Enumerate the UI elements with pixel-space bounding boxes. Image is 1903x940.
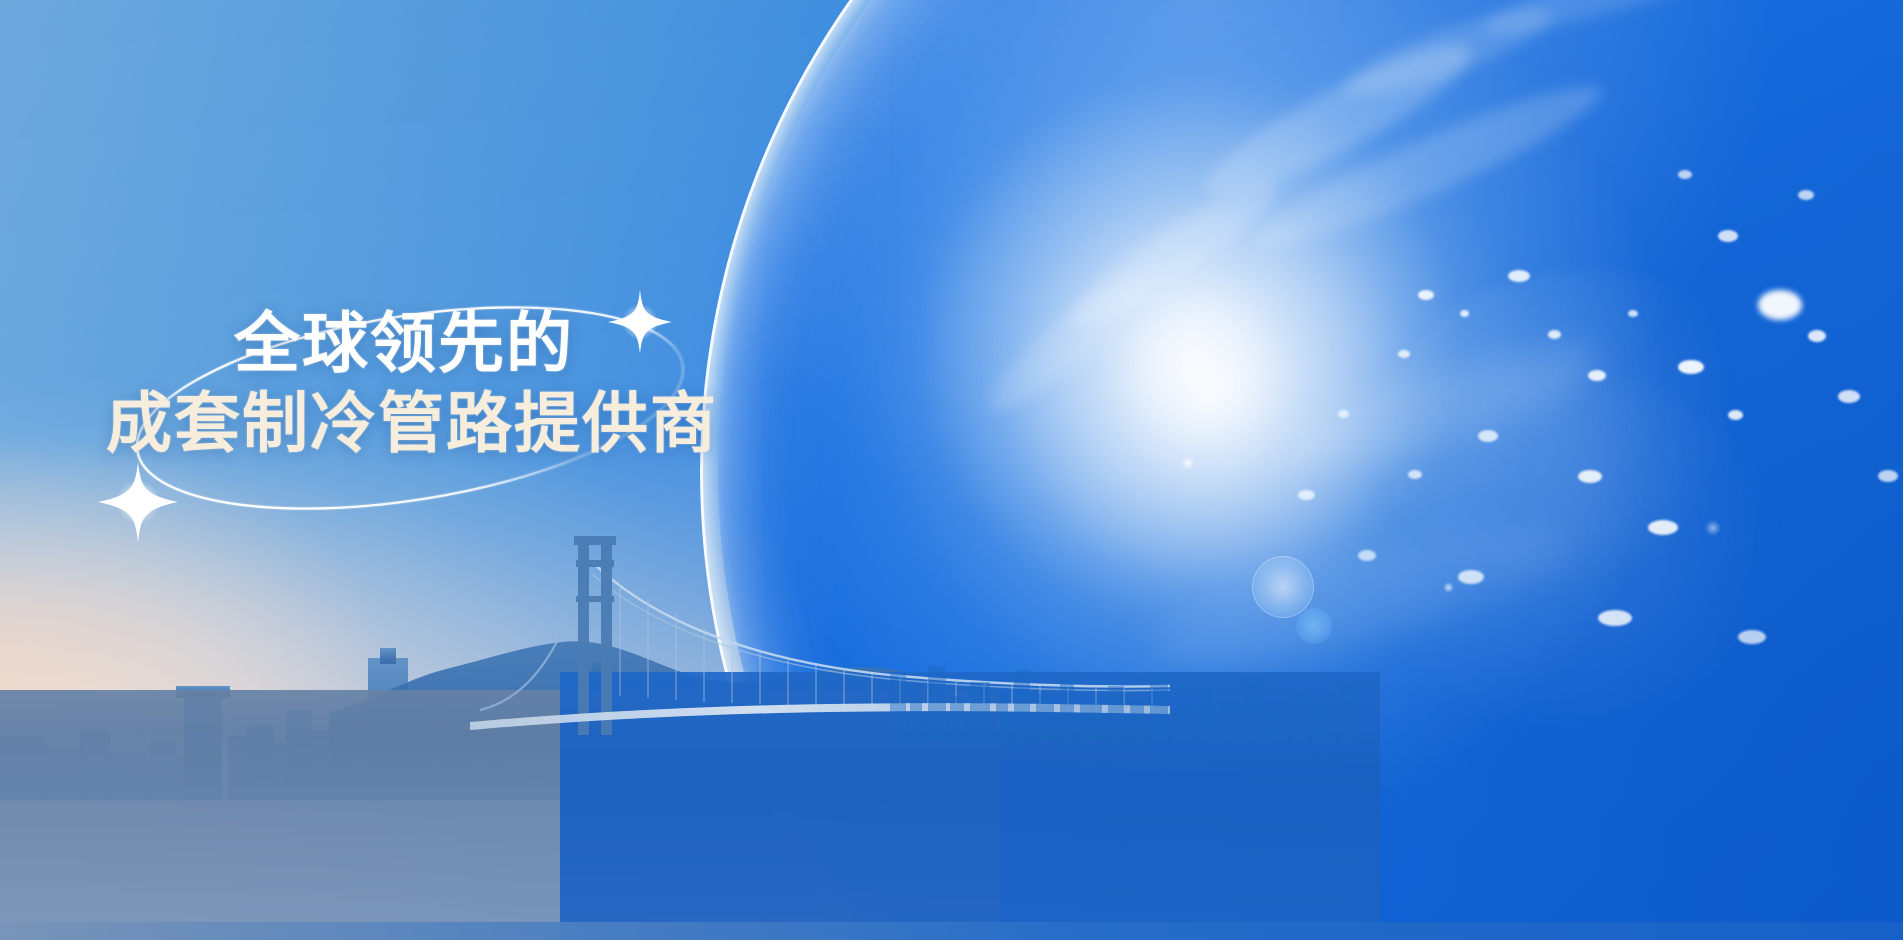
sparkle-star-lower <box>94 458 182 546</box>
hero-banner: 全球领先的 成套制冷管路提供商 <box>0 0 1903 940</box>
distant-city-silhouette <box>880 612 1380 742</box>
headline-line-2: 成套制冷管路提供商 <box>106 386 866 460</box>
headline-line-1: 全球领先的 <box>234 306 866 380</box>
hero-headline: 全球领先的 成套制冷管路提供商 <box>106 306 866 460</box>
bottom-edge-band <box>0 922 1903 940</box>
